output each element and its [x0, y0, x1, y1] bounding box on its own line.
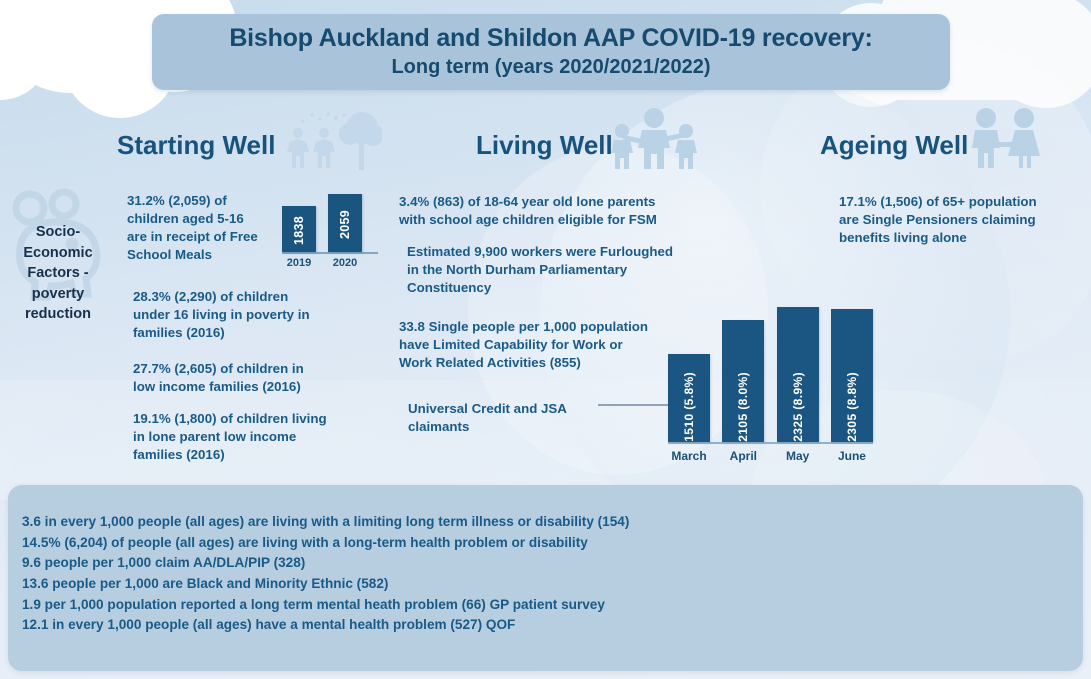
- fsm-xtick-2019: 2019: [282, 257, 316, 269]
- bottom-stat-line-4: 13.6 people per 1,000 are Black and Mino…: [22, 574, 629, 595]
- fsm-xtick-2020: 2020: [328, 257, 362, 269]
- bottom-stat-line-3: 9.6 people per 1,000 claim AA/DLA/PIP (3…: [22, 553, 629, 574]
- stat-low-income-families: 27.7% (2,605) of children in low income …: [133, 360, 348, 396]
- uc-bar-may-label: 2325 (8.9%): [791, 366, 805, 442]
- uc-bar-march-label: 1510 (5.8%): [682, 366, 696, 442]
- section-heading-living-well: Living Well: [476, 130, 613, 161]
- uc-bar-march: 1510 (5.8%): [668, 354, 710, 442]
- uc-col-april: 2105 (8.0%): [722, 320, 764, 442]
- stat-under16-poverty: 28.3% (2,290) of children under 16 livin…: [133, 288, 343, 342]
- bottom-panel: 3.6 in every 1,000 people (all ages) are…: [8, 485, 1083, 671]
- fsm-bar-2020-label: 2059: [338, 207, 352, 239]
- uc-bar-may: 2325 (8.9%): [777, 307, 819, 442]
- uc-xtick-may: May: [777, 449, 819, 463]
- fsm-axis-line: [282, 252, 378, 254]
- bottom-stats-list: 3.6 in every 1,000 people (all ages) are…: [22, 512, 629, 636]
- stat-lone-parent-low-income: 19.1% (1,800) of children living in lone…: [133, 410, 358, 464]
- fsm-bar-2019-label: 1838: [292, 213, 306, 245]
- section-heading-starting-well: Starting Well: [117, 130, 275, 161]
- socio-economic-factors-label: Socio- Economic Factors - poverty reduct…: [10, 222, 106, 325]
- uc-col-march: 1510 (5.8%): [668, 354, 710, 442]
- stat-fsm-children: 31.2% (2,059) of children aged 5-16 are …: [127, 192, 282, 264]
- bottom-stat-line-5: 1.9 per 1,000 population reported a long…: [22, 595, 629, 616]
- universal-credit-jsa-claimants-chart: 1510 (5.8%) 2105 (8.0%) 2325 (8.9%) 2305…: [668, 300, 873, 470]
- section-heading-ageing-well: Ageing Well: [820, 130, 968, 161]
- uc-xtick-june: June: [831, 449, 873, 463]
- bottom-stat-line-2: 14.5% (6,204) of people (all ages) are l…: [22, 533, 629, 554]
- stat-universal-credit-jsa: Universal Credit and JSA claimants: [408, 400, 603, 436]
- stat-single-pensioners: 17.1% (1,506) of 65+ population are Sing…: [839, 193, 1069, 247]
- uc-axis-line: [668, 442, 873, 444]
- uc-bar-june: 2305 (8.8%): [831, 309, 873, 442]
- bottom-stat-line-6: 12.1 in every 1,000 people (all ages) ha…: [22, 615, 629, 636]
- banner-title-line1: Bishop Auckland and Shildon AAP COVID-19…: [229, 24, 872, 53]
- elderly-couple-icon: [962, 106, 1050, 168]
- uc-bar-april: 2105 (8.0%): [722, 320, 764, 442]
- free-school-meals-chart: 1838 2059 2019 2020: [282, 190, 378, 272]
- uc-col-may: 2325 (8.9%): [777, 307, 819, 442]
- children-and-tree-icon: [278, 108, 382, 170]
- banner-title-line2: Long term (years 2020/2021/2022): [391, 54, 710, 80]
- stat-furloughed-workers: Estimated 9,900 workers were Furloughed …: [407, 243, 702, 297]
- infographic-page: Bishop Auckland and Shildon AAP COVID-19…: [0, 0, 1091, 679]
- uc-xtick-march: March: [668, 449, 710, 463]
- uc-xtick-april: April: [722, 449, 764, 463]
- uc-bar-june-label: 2305 (8.8%): [845, 366, 859, 442]
- fsm-bar-2019: 1838: [282, 206, 316, 252]
- uc-bar-april-label: 2105 (8.0%): [736, 366, 750, 442]
- title-banner: Bishop Auckland and Shildon AAP COVID-19…: [152, 14, 950, 90]
- fsm-bar-2020: 2059: [328, 194, 362, 252]
- bottom-stat-line-1: 3.6 in every 1,000 people (all ages) are…: [22, 512, 629, 533]
- family-group-icon: [608, 107, 700, 169]
- stat-limited-capability-work: 33.8 Single people per 1,000 population …: [399, 318, 684, 372]
- uc-col-june: 2305 (8.8%): [831, 309, 873, 442]
- stat-lone-parents-fsm: 3.4% (863) of 18-64 year old lone parent…: [399, 193, 699, 229]
- arrow-right-icon: [598, 399, 676, 411]
